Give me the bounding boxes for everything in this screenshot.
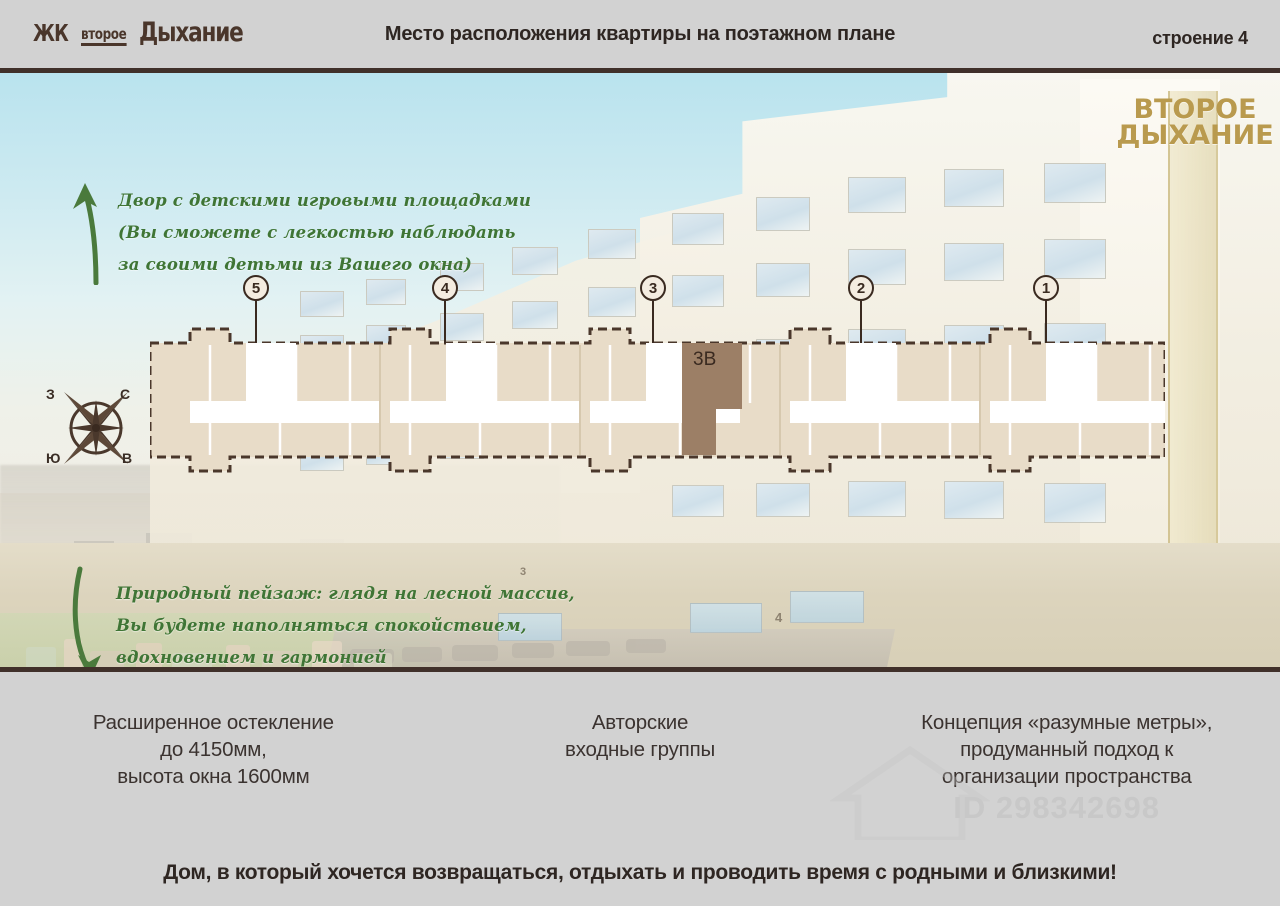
entrance-canopy	[690, 603, 762, 633]
entrance-leader-line	[860, 301, 862, 343]
page-title: Место расположения квартиры на поэтажном…	[0, 0, 1280, 68]
floor-plan-diagram: 3В 5 4 3 2 1	[150, 325, 1165, 475]
compass-west-label: З	[46, 386, 55, 402]
entrance-marker-5[interactable]: 5	[243, 275, 269, 301]
feature-smart-meters: Концепция «разумные метры», продуманный …	[853, 677, 1280, 790]
entrance-marker-4[interactable]: 4	[432, 275, 458, 301]
poster-header: ЖК второе Дыхание Место расположения ква…	[0, 0, 1280, 68]
highlighted-unit-label: 3В	[693, 349, 716, 371]
arrow-up-icon	[66, 175, 110, 285]
photo-entrance-number: 4	[775, 610, 782, 625]
building-number-label: строение 4	[1152, 28, 1248, 49]
feature-entrance-groups: Авторские входные группы	[427, 677, 854, 763]
entrance-canopy	[790, 591, 864, 623]
entrance-marker-2[interactable]: 2	[848, 275, 874, 301]
feature-glazing: Расширенное остекление до 4150мм, высота…	[0, 677, 427, 790]
annotation-nature: Природный пейзаж: глядя на лесной массив…	[116, 578, 575, 672]
annotation-courtyard: Двор с детскими игровыми площадками (Вы …	[118, 185, 531, 282]
compass-south-label: Ю	[46, 450, 60, 466]
compass-rose: С З Ю В	[40, 378, 152, 478]
entrance-marker-3[interactable]: 3	[640, 275, 666, 301]
entrance-leader-line	[444, 301, 446, 343]
entrance-marker-1[interactable]: 1	[1033, 275, 1059, 301]
compass-north-label: С	[120, 386, 130, 402]
photo-entrance-number: 3	[520, 566, 526, 578]
entrance-leader-line	[652, 301, 654, 343]
entrance-leader-line	[1045, 301, 1047, 343]
footer-tagline: Дом, в который хочется возвращаться, отд…	[0, 840, 1280, 906]
floor-plan-outline	[150, 325, 1165, 475]
photo-stage: ВТОРОЕ ДЫХАНИЕ 3	[0, 68, 1280, 672]
features-band: Расширенное остекление до 4150мм, высота…	[0, 677, 1280, 837]
sign-line-2: ДЫХАНИЕ	[1116, 123, 1273, 149]
arrow-down-icon	[62, 565, 110, 672]
entrance-leader-line	[255, 301, 257, 343]
compass-east-label: В	[122, 450, 132, 466]
floor-plan-poster: ЖК второе Дыхание Место расположения ква…	[0, 0, 1280, 906]
